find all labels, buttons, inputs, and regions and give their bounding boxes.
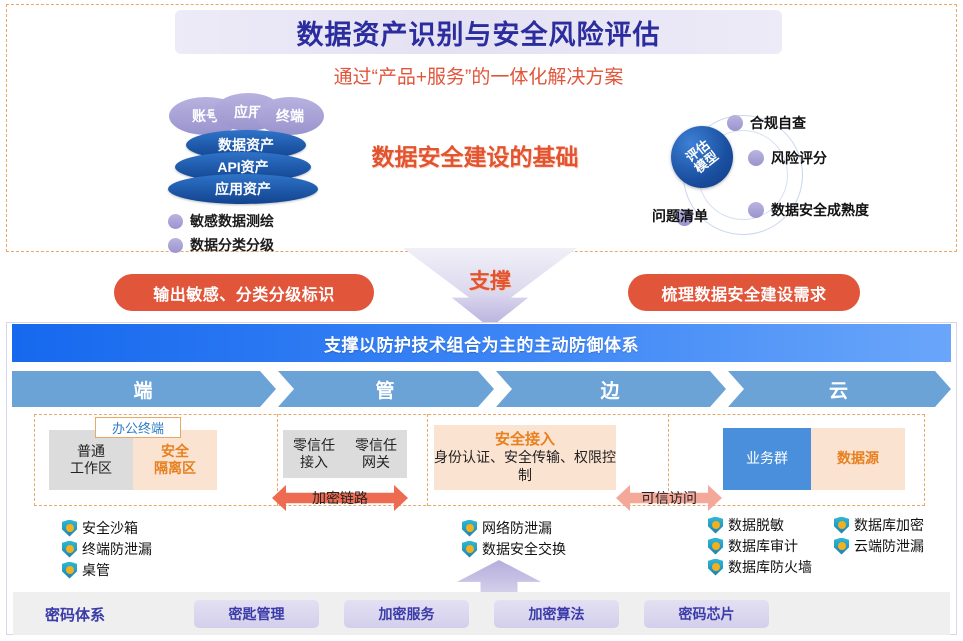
defense-banner-text: 支撑以防护技术组合为主的主动防御体系 — [324, 331, 639, 356]
shield-icon — [834, 538, 849, 555]
capability-group-endpoint: 安全沙箱 终端防泄漏 桌管 — [62, 518, 152, 581]
capability-label: 安全沙箱 — [82, 518, 138, 538]
shield-icon — [62, 541, 77, 558]
model-item-label: 合规自查 — [750, 113, 806, 133]
capability-label: 数据库防火墙 — [728, 557, 812, 577]
capability-item[interactable]: 数据库防火墙 — [708, 557, 812, 577]
page-title: 数据资产识别与安全风险评估 — [297, 13, 661, 52]
box-secure-access[interactable]: 安全接入 身份认证、安全传输、权限控制 — [434, 425, 616, 490]
crypto-button-encryption-algorithm[interactable]: 加密算法 — [494, 600, 619, 628]
shield-icon — [834, 517, 849, 534]
stage-chevron-duan[interactable]: 端 — [12, 371, 276, 407]
box-data-source[interactable]: 数据源 — [811, 428, 905, 490]
capability-label: 网络防泄漏 — [482, 518, 552, 538]
capability-item[interactable]: 终端防泄漏 — [62, 539, 152, 559]
trusted-access-label: 可信访问 — [616, 485, 722, 511]
capability-group-network: 网络防泄漏 数据安全交换 — [462, 518, 566, 560]
box-normal-workzone-label: 普通工作区 — [70, 443, 112, 478]
capability-item[interactable]: 安全沙箱 — [62, 518, 152, 538]
box-zero-trust-gateway[interactable]: 零信任网关 — [345, 430, 407, 478]
capability-label: 云端防泄漏 — [854, 536, 924, 556]
output-sensitive-pill[interactable]: 输出敏感、分类分级标识 — [114, 274, 374, 311]
stage-chevron-yun[interactable]: 云 — [728, 371, 951, 407]
capability-label: 数据库审计 — [728, 536, 798, 556]
capability-label: 数据库加密 — [854, 515, 924, 535]
crypto-system-label: 密码体系 — [45, 604, 105, 625]
page-title-banner: 数据资产识别与安全风险评估 — [175, 10, 782, 54]
shield-icon — [708, 559, 723, 576]
legend-label: 敏感数据测绘 — [190, 211, 274, 231]
box-zero-trust-access[interactable]: 零信任接入 — [283, 430, 345, 478]
defense-banner: 支撑以防护技术组合为主的主动防御体系 — [12, 324, 951, 362]
box-zero-trust-gateway-label: 零信任网关 — [355, 437, 397, 472]
capability-item[interactable]: 网络防泄漏 — [462, 518, 566, 538]
capability-item[interactable]: 桌管 — [62, 560, 152, 580]
asset-bubble-terminal[interactable]: 终端 — [256, 97, 324, 135]
crypto-button-key-management[interactable]: 密匙管理 — [194, 600, 319, 628]
bullet-dot-icon — [168, 214, 183, 229]
box-secure-access-title: 安全接入 — [495, 431, 555, 450]
bullet-dot-icon — [748, 150, 764, 166]
capability-label: 桌管 — [82, 560, 110, 580]
capability-item[interactable]: 数据库审计 — [708, 536, 812, 556]
requirements-pill[interactable]: 梳理数据安全建设需求 — [628, 274, 860, 311]
support-label: 支撑 — [403, 265, 577, 295]
capability-group-cloud: 数据库加密 云端防泄漏 — [834, 515, 924, 557]
encrypted-link-label: 加密链路 — [272, 485, 408, 511]
shield-icon — [708, 538, 723, 555]
shield-icon — [462, 541, 477, 558]
box-zero-trust-access-label: 零信任接入 — [293, 437, 335, 472]
bullet-dot-icon — [727, 115, 743, 131]
box-secure-zone-label: 安全隔离区 — [154, 443, 196, 478]
capability-group-database: 数据脱敏 数据库审计 数据库防火墙 — [708, 515, 812, 578]
foundation-caption: 数据安全建设的基础 — [345, 138, 605, 172]
stage-chevron-row: 端 管 边 云 — [12, 371, 951, 407]
model-item-risk-score[interactable]: 风险评分 — [748, 148, 827, 168]
model-item-label: 风险评分 — [771, 148, 827, 168]
stage-chevron-guan[interactable]: 管 — [278, 371, 494, 407]
capability-item[interactable]: 数据脱敏 — [708, 515, 812, 535]
capability-item[interactable]: 数据安全交换 — [462, 539, 566, 559]
crypto-button-encryption-service[interactable]: 加密服务 — [344, 600, 469, 628]
bullet-dot-icon — [168, 238, 183, 253]
box-secure-zone[interactable]: 安全隔离区 — [133, 430, 217, 490]
assessment-model-label: 评估 模型 — [683, 138, 720, 176]
asset-legend: 敏感数据测绘 数据分类分级 — [168, 211, 368, 259]
office-terminal-label: 办公终端 — [95, 417, 181, 438]
box-business-group[interactable]: 业务群 — [723, 428, 811, 490]
model-item-label: 数据安全成熟度 — [771, 200, 869, 220]
legend-label: 数据分类分级 — [190, 235, 274, 255]
capability-label: 数据安全交换 — [482, 539, 566, 559]
shield-icon — [62, 562, 77, 579]
model-item-issue-list: 问题清单 — [652, 206, 708, 226]
box-normal-workzone[interactable]: 普通工作区 — [49, 430, 133, 490]
shield-icon — [708, 517, 723, 534]
column-separator-2 — [427, 414, 428, 506]
crypto-button-crypto-chip[interactable]: 密码芯片 — [644, 600, 769, 628]
bullet-dot-icon — [748, 202, 764, 218]
model-item-compliance-selfcheck[interactable]: 合规自查 — [727, 113, 806, 133]
box-secure-access-desc: 身份认证、安全传输、权限控制 — [434, 449, 616, 484]
model-item-maturity[interactable]: 数据安全成熟度 — [748, 200, 869, 220]
capability-item[interactable]: 云端防泄漏 — [834, 536, 924, 556]
page-subtitle: 通过“产品+服务”的一体化解决方案 — [175, 62, 782, 89]
shield-icon — [462, 520, 477, 537]
capability-label: 数据脱敏 — [728, 515, 784, 535]
assessment-model-circle[interactable]: 评估 模型 — [671, 126, 733, 188]
capability-label: 终端防泄漏 — [82, 539, 152, 559]
shield-icon — [62, 520, 77, 537]
legend-item-classification: 数据分类分级 — [168, 235, 368, 255]
capability-item[interactable]: 数据库加密 — [834, 515, 924, 535]
stage-chevron-bian[interactable]: 边 — [496, 371, 726, 407]
crypto-footer — [13, 592, 950, 635]
asset-bubble-app-asset[interactable]: 应用资产 — [168, 174, 318, 204]
legend-item-sensitive-mapping: 敏感数据测绘 — [168, 211, 368, 231]
